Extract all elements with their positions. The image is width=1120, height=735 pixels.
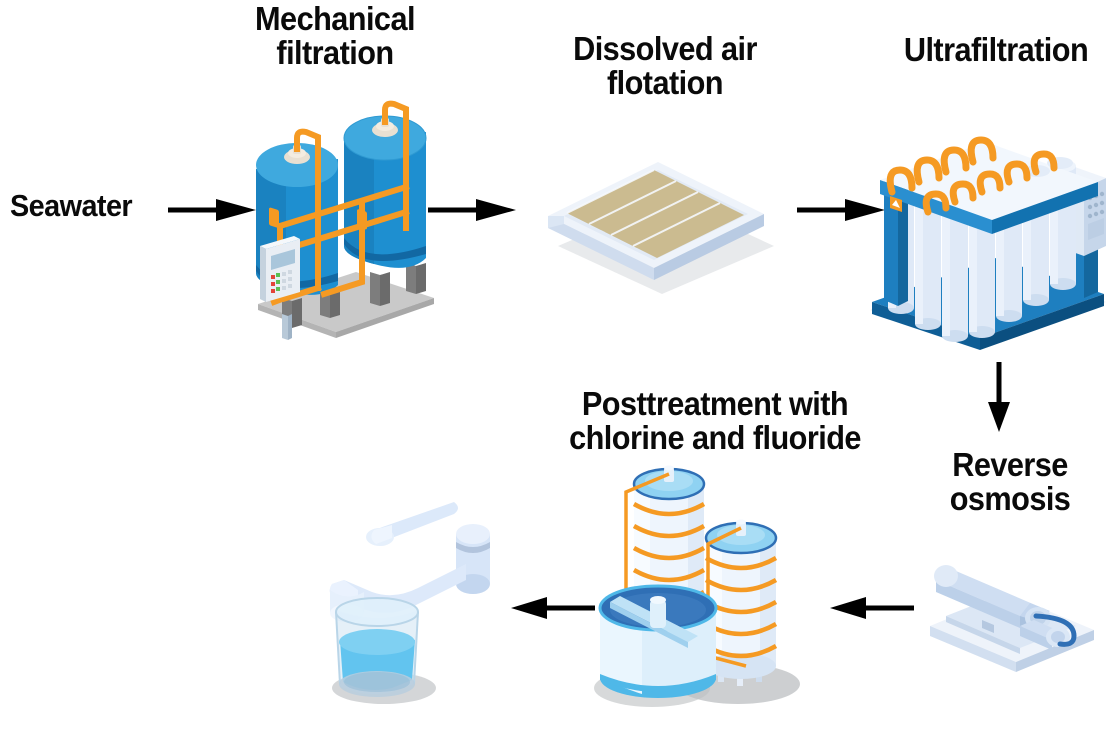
water-glass <box>336 598 418 697</box>
arrow-ultrafiltration-to-ro <box>982 362 1016 432</box>
flotation-basin-icon <box>536 148 776 294</box>
pressure-filter-tanks-icon <box>238 96 448 336</box>
faucet-and-glass-icon <box>322 492 532 708</box>
label-reverse-osmosis: Reverse osmosis <box>917 448 1103 515</box>
label-ultrafiltration: Ultrafiltration <box>881 33 1112 67</box>
reverse-osmosis-vessel-icon <box>924 534 1100 674</box>
label-posttreatment: Posttreatment with chlorine and fluoride <box>524 387 905 454</box>
label-seawater: Seawater <box>10 190 168 222</box>
desalination-flow-diagram: Seawater Mechanical filtration Dissolved… <box>0 0 1120 735</box>
label-mechanical-filtration: Mechanical filtration <box>209 2 460 69</box>
mixing-tank <box>600 586 716 698</box>
arrow-ro-to-posttreatment <box>830 594 914 622</box>
dosing-silo-right <box>706 520 776 680</box>
chemical-dosing-silos-icon <box>596 466 826 706</box>
ultrafiltration-membrane-rack-icon <box>862 88 1112 350</box>
label-dissolved-air-flotation: Dissolved air flotation <box>530 32 800 99</box>
